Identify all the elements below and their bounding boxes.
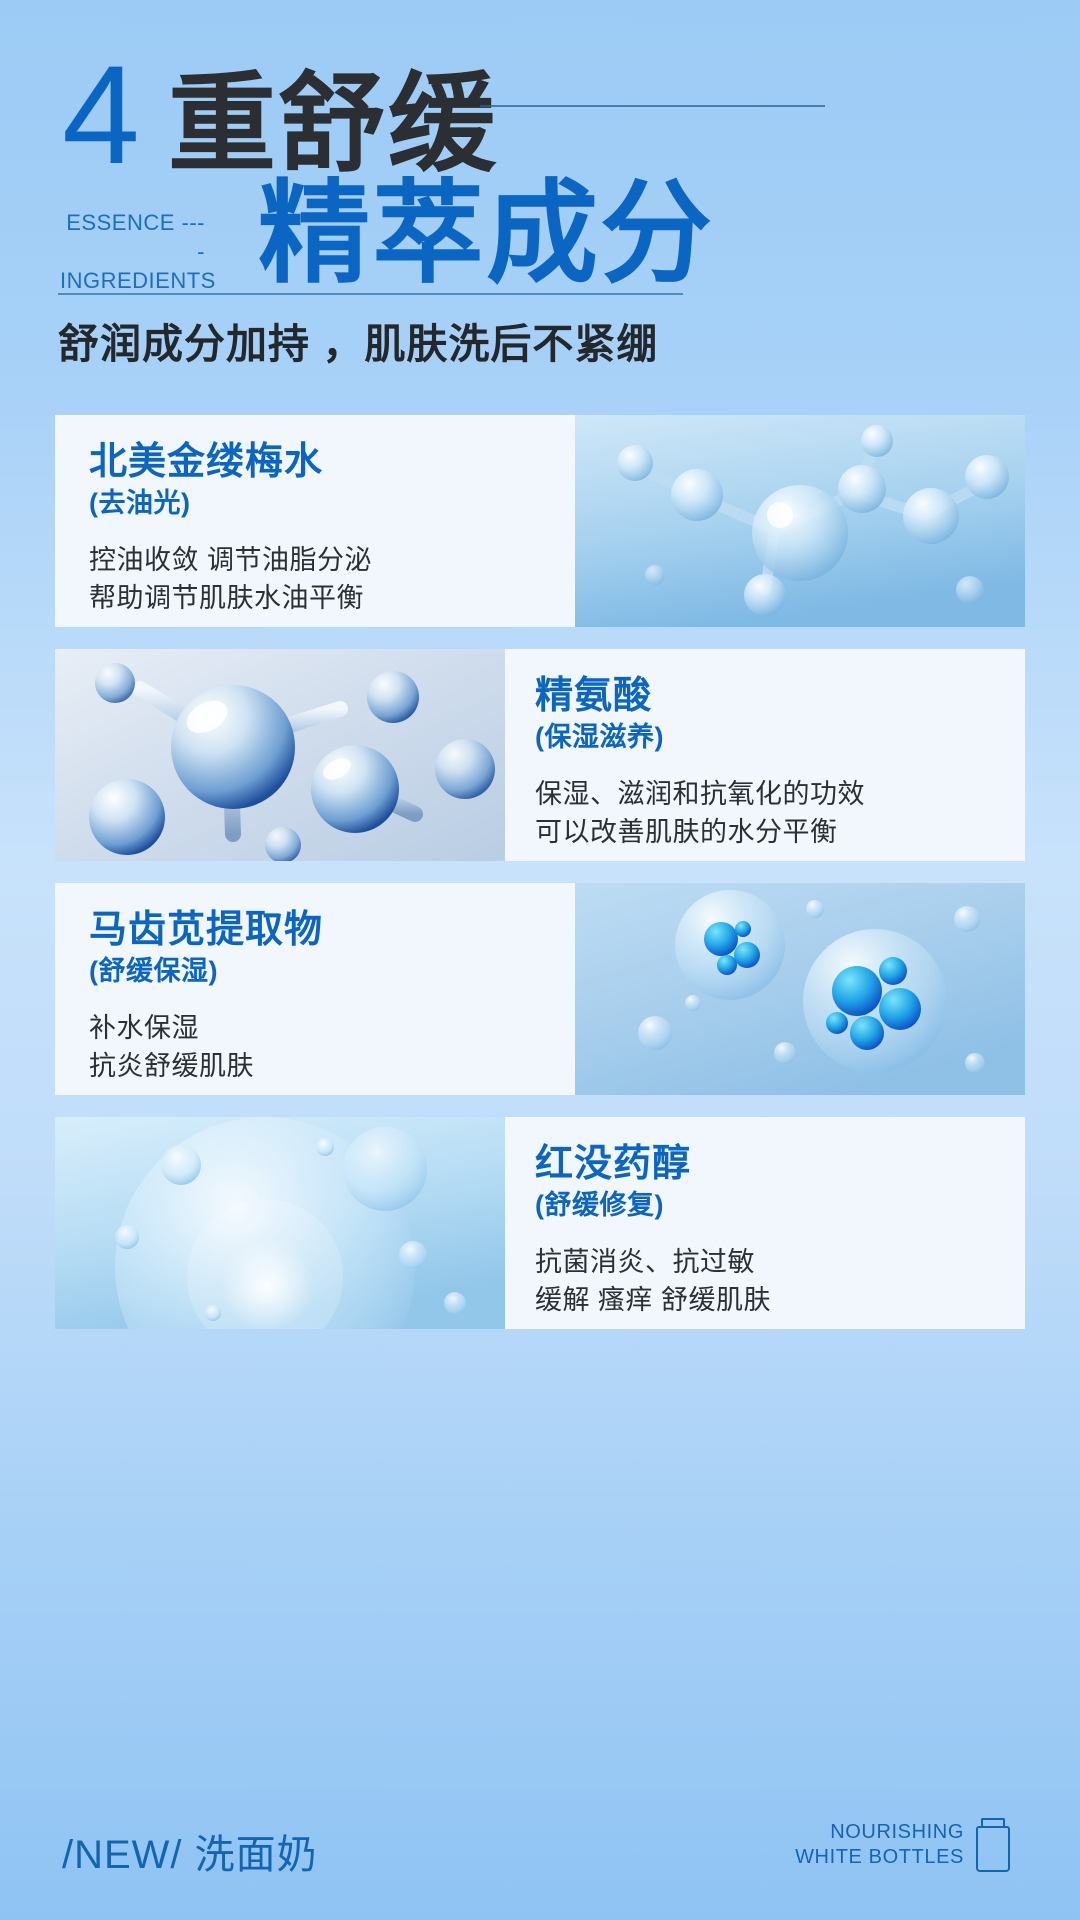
molecule-chain-image bbox=[575, 415, 1025, 627]
ingredient-description-line2: 缓解 瘙痒 舒缓肌肤 bbox=[535, 1281, 1007, 1319]
header-title-line1: 重舒缓 bbox=[168, 70, 498, 178]
ingredient-card-list: 北美金缕梅水 (去油光) 控油收敛 调节油脂分泌 帮助调节肌肤水油平衡 bbox=[0, 415, 1080, 1351]
header-eyebrow: ESSENCE ---- INGREDIENTS bbox=[60, 208, 205, 295]
ingredient-description-line1: 补水保湿 bbox=[89, 1009, 557, 1047]
ingredient-description: 补水保湿 抗炎舒缓肌肤 bbox=[89, 1009, 557, 1086]
ingredient-card-text: 北美金缕梅水 (去油光) 控油收敛 调节油脂分泌 帮助调节肌肤水油平衡 bbox=[55, 415, 575, 627]
ingredient-card-text: 马齿苋提取物 (舒缓保湿) 补水保湿 抗炎舒缓肌肤 bbox=[55, 883, 575, 1095]
ingredient-card-text: 红没药醇 (舒缓修复) 抗菌消炎、抗过敏 缓解 瘙痒 舒缓肌肤 bbox=[505, 1117, 1025, 1329]
ingredient-description-line2: 抗炎舒缓肌肤 bbox=[89, 1047, 557, 1085]
ingredient-name: 精氨酸 bbox=[535, 675, 1007, 719]
ingredient-description: 保湿、滋润和抗氧化的功效 可以改善肌肤的水分平衡 bbox=[535, 775, 1007, 852]
ingredient-description-line2: 帮助调节肌肤水油平衡 bbox=[89, 579, 557, 617]
ingredient-card: 精氨酸 (保湿滋养) 保湿、滋润和抗氧化的功效 可以改善肌肤的水分平衡 bbox=[55, 649, 1025, 861]
ingredient-description: 抗菌消炎、抗过敏 缓解 瘙痒 舒缓肌肤 bbox=[535, 1243, 1007, 1320]
ingredient-subtitle: (舒缓修复) bbox=[535, 1189, 1007, 1221]
header-number: 4 bbox=[62, 45, 136, 185]
header: 4 重舒缓 精萃成分 ESSENCE ---- INGREDIENTS 舒润成分… bbox=[0, 0, 1080, 430]
blue-bubble-cluster-image bbox=[575, 883, 1025, 1095]
header-divider-top bbox=[480, 105, 825, 107]
molecule-glass-spheres-image bbox=[55, 649, 505, 861]
header-eyebrow-line2: INGREDIENTS bbox=[60, 266, 205, 295]
ingredient-card: 红没药醇 (舒缓修复) 抗菌消炎、抗过敏 缓解 瘙痒 舒缓肌肤 bbox=[55, 1117, 1025, 1329]
ingredient-card: 马齿苋提取物 (舒缓保湿) 补水保湿 抗炎舒缓肌肤 bbox=[55, 883, 1025, 1095]
header-eyebrow-line1: ESSENCE ---- bbox=[60, 208, 205, 266]
footer-brand-text: NOURISHING WHITE BOTTLES bbox=[795, 1820, 964, 1870]
ingredient-description: 控油收敛 调节油脂分泌 帮助调节肌肤水油平衡 bbox=[89, 541, 557, 618]
footer: /NEW/ 洗面奶 NOURISHING WHITE BOTTLES bbox=[0, 1770, 1080, 1920]
footer-brand-line1: NOURISHING bbox=[795, 1820, 964, 1845]
ingredient-subtitle: (舒缓保湿) bbox=[89, 955, 557, 987]
tube-bottle-cap bbox=[981, 1818, 1005, 1826]
footer-brand-line2: WHITE BOTTLES bbox=[795, 1845, 964, 1870]
header-title-line2: 精萃成分 bbox=[258, 178, 714, 290]
ingredient-description-line1: 保湿、滋润和抗氧化的功效 bbox=[535, 775, 1007, 813]
water-droplet-sphere-image bbox=[55, 1117, 505, 1329]
ingredient-description-line2: 可以改善肌肤的水分平衡 bbox=[535, 813, 1007, 851]
ingredient-name: 北美金缕梅水 bbox=[89, 441, 557, 485]
ingredient-subtitle: (保湿滋养) bbox=[535, 721, 1007, 753]
footer-brand: NOURISHING WHITE BOTTLES bbox=[795, 1818, 1010, 1872]
ingredient-name: 红没药醇 bbox=[535, 1143, 1007, 1187]
ingredient-card: 北美金缕梅水 (去油光) 控油收敛 调节油脂分泌 帮助调节肌肤水油平衡 bbox=[55, 415, 1025, 627]
footer-product-label: /NEW/ 洗面奶 bbox=[62, 1822, 318, 1880]
header-divider-mid bbox=[58, 293, 683, 295]
ingredient-card-text: 精氨酸 (保湿滋养) 保湿、滋润和抗氧化的功效 可以改善肌肤的水分平衡 bbox=[505, 649, 1025, 861]
tube-bottle-icon bbox=[976, 1818, 1010, 1872]
header-subtitle: 舒润成分加持 ，肌肤洗后不紧绷 bbox=[58, 310, 658, 370]
ingredient-subtitle: (去油光) bbox=[89, 487, 557, 519]
tube-bottle-body bbox=[976, 1826, 1010, 1872]
ingredient-name: 马齿苋提取物 bbox=[89, 909, 557, 953]
ingredient-description-line1: 抗菌消炎、抗过敏 bbox=[535, 1243, 1007, 1281]
ingredient-description-line1: 控油收敛 调节油脂分泌 bbox=[89, 541, 557, 579]
